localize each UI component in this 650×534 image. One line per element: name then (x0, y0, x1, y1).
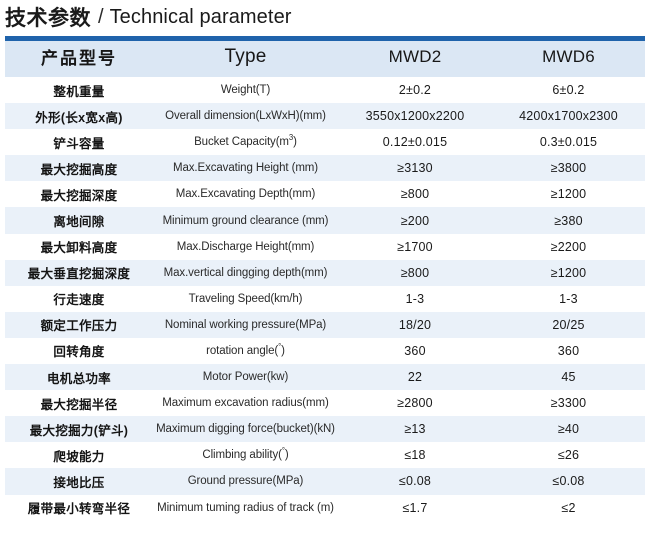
spec-name-en: Max.vertical dingging depth(mm) (153, 260, 338, 286)
spec-name-en: Bucket Capacity(m3) (153, 129, 338, 155)
spec-name-cn: 整机重量 (5, 77, 153, 103)
spec-value-mwd2: ≥800 (338, 181, 492, 207)
spec-value-mwd6: ≥2200 (492, 234, 645, 260)
table-row: 接地比压Ground pressure(MPa)≤0.08≤0.08 (5, 468, 645, 494)
spec-name-en: Overall dimension(LxWxH)(mm) (153, 103, 338, 129)
spec-name-en-suffix: ) (281, 345, 285, 357)
column-header-mwd2: MWD2 (338, 36, 492, 77)
spec-name-en: rotation angle(°) (153, 338, 338, 364)
spec-name-en: Max.Discharge Height(mm) (153, 234, 338, 260)
spec-value-mwd6: 6±0.2 (492, 77, 645, 103)
spec-value-mwd6: ≥3800 (492, 155, 645, 181)
table-body: 整机重量Weight(T)2±0.26±0.2外形(长x宽x高)Overall … (5, 77, 645, 521)
spec-name-en: Minimum tuming radius of track (m) (153, 495, 338, 521)
page-title-separator: / (98, 6, 104, 29)
spec-name-en-prefix: Climbing ability( (202, 449, 281, 461)
spec-name-en: Nominal working pressure(MPa) (153, 312, 338, 338)
spec-value-mwd6: 4200x1700x2300 (492, 103, 645, 129)
spec-value-mwd6: ≤0.08 (492, 468, 645, 494)
spec-value-mwd2: 1-3 (338, 286, 492, 312)
spec-name-cn: 履带最小转弯半径 (5, 495, 153, 521)
spec-value-mwd6: ≥1200 (492, 260, 645, 286)
table-row: 履带最小转弯半径Minimum tuming radius of track (… (5, 495, 645, 521)
spec-name-en: Climbing ability(°) (153, 442, 338, 468)
table-row: 离地间隙Minimum ground clearance (mm)≥200≥38… (5, 207, 645, 233)
spec-name-en-suffix: ) (293, 136, 297, 148)
spec-name-en-suffix: ) (285, 449, 289, 461)
spec-name-cn: 最大垂直挖掘深度 (5, 260, 153, 286)
spec-name-cn: 最大挖掘深度 (5, 181, 153, 207)
spec-name-cn: 额定工作压力 (5, 312, 153, 338)
page-title-chinese: 技术参数 (5, 2, 91, 32)
table-row: 额定工作压力Nominal working pressure(MPa)18/20… (5, 312, 645, 338)
spec-name-cn: 接地比压 (5, 468, 153, 494)
table-row: 铲斗容量Bucket Capacity(m3)0.12±0.0150.3±0.0… (5, 129, 645, 155)
spec-name-cn: 最大卸料高度 (5, 234, 153, 260)
table-row: 最大挖掘半径Maximum excavation radius(mm)≥2800… (5, 390, 645, 416)
spec-name-en-prefix: Bucket Capacity(m (194, 136, 289, 148)
spec-value-mwd2: 2±0.2 (338, 77, 492, 103)
spec-name-cn: 最大挖掘力(铲斗) (5, 416, 153, 442)
page-title-english: Technical parameter (110, 6, 292, 29)
spec-value-mwd2: 22 (338, 364, 492, 390)
spec-value-mwd2: ≥2800 (338, 390, 492, 416)
spec-name-en: Traveling Speed(km/h) (153, 286, 338, 312)
table-header: 产品型号 Type MWD2 MWD6 (5, 36, 645, 77)
table-row: 行走速度Traveling Speed(km/h)1-31-3 (5, 286, 645, 312)
spec-name-cn: 回转角度 (5, 338, 153, 364)
spec-value-mwd6: 45 (492, 364, 645, 390)
table-row: 爬坡能力Climbing ability(°)≤18≤26 (5, 442, 645, 468)
column-header-model-cn: 产品型号 (5, 36, 153, 77)
spec-name-cn: 离地间隙 (5, 207, 153, 233)
spec-name-cn: 爬坡能力 (5, 442, 153, 468)
spec-name-en: Minimum ground clearance (mm) (153, 207, 338, 233)
spec-name-cn: 最大挖掘半径 (5, 390, 153, 416)
spec-value-mwd6: ≥380 (492, 207, 645, 233)
table-row: 最大卸料高度Max.Discharge Height(mm)≥1700≥2200 (5, 234, 645, 260)
spec-name-en: Motor Power(kw) (153, 364, 338, 390)
table-header-row: 产品型号 Type MWD2 MWD6 (5, 36, 645, 77)
spec-value-mwd2: ≥800 (338, 260, 492, 286)
spec-value-mwd2: ≤18 (338, 442, 492, 468)
column-header-type: Type (153, 36, 338, 77)
column-header-mwd6: MWD6 (492, 36, 645, 77)
spec-value-mwd2: 0.12±0.015 (338, 129, 492, 155)
table-row: 外形(长x宽x高)Overall dimension(LxWxH)(mm)355… (5, 103, 645, 129)
table-row: 回转角度rotation angle(°)360360 (5, 338, 645, 364)
spec-value-mwd2: ≤1.7 (338, 495, 492, 521)
spec-name-cn: 行走速度 (5, 286, 153, 312)
spec-value-mwd2: ≥3130 (338, 155, 492, 181)
spec-value-mwd2: ≥13 (338, 416, 492, 442)
spec-name-cn: 外形(长x宽x高) (5, 103, 153, 129)
spec-value-mwd2: 3550x1200x2200 (338, 103, 492, 129)
spec-value-mwd6: ≤26 (492, 442, 645, 468)
table-row: 最大垂直挖掘深度Max.vertical dingging depth(mm)≥… (5, 260, 645, 286)
spec-value-mwd2: ≥1700 (338, 234, 492, 260)
table-row: 最大挖掘深度Max.Excavating Depth(mm)≥800≥1200 (5, 181, 645, 207)
page-title: 技术参数 / Technical parameter (5, 2, 292, 32)
spec-name-en: Max.Excavating Depth(mm) (153, 181, 338, 207)
spec-name-en-prefix: rotation angle( (206, 345, 278, 357)
spec-name-en: Ground pressure(MPa) (153, 468, 338, 494)
spec-value-mwd2: 360 (338, 338, 492, 364)
table-row: 电机总功率Motor Power(kw)2245 (5, 364, 645, 390)
spec-name-en: Max.Excavating Height (mm) (153, 155, 338, 181)
spec-value-mwd2: 18/20 (338, 312, 492, 338)
spec-name-en: Maximum digging force(bucket)(kN) (153, 416, 338, 442)
spec-name-en: Weight(T) (153, 77, 338, 103)
table-row: 最大挖掘高度Max.Excavating Height (mm)≥3130≥38… (5, 155, 645, 181)
spec-value-mwd2: ≤0.08 (338, 468, 492, 494)
spec-name-cn: 电机总功率 (5, 364, 153, 390)
spec-value-mwd6: 360 (492, 338, 645, 364)
spec-value-mwd6: ≥40 (492, 416, 645, 442)
spec-value-mwd6: 20/25 (492, 312, 645, 338)
spec-value-mwd6: 0.3±0.015 (492, 129, 645, 155)
table-row: 整机重量Weight(T)2±0.26±0.2 (5, 77, 645, 103)
spec-value-mwd6: 1-3 (492, 286, 645, 312)
spec-name-cn: 铲斗容量 (5, 129, 153, 155)
spec-value-mwd2: ≥200 (338, 207, 492, 233)
technical-parameter-table: 产品型号 Type MWD2 MWD6 整机重量Weight(T)2±0.26±… (5, 36, 645, 521)
header-accent-bar (5, 36, 645, 41)
spec-name-en: Maximum excavation radius(mm) (153, 390, 338, 416)
table-row: 最大挖掘力(铲斗)Maximum digging force(bucket)(k… (5, 416, 645, 442)
spec-name-cn: 最大挖掘高度 (5, 155, 153, 181)
spec-value-mwd6: ≥3300 (492, 390, 645, 416)
spec-value-mwd6: ≥1200 (492, 181, 645, 207)
spec-value-mwd6: ≤2 (492, 495, 645, 521)
spec-sheet-page: 技术参数 / Technical parameter 产品型号 Type MWD… (0, 0, 650, 534)
